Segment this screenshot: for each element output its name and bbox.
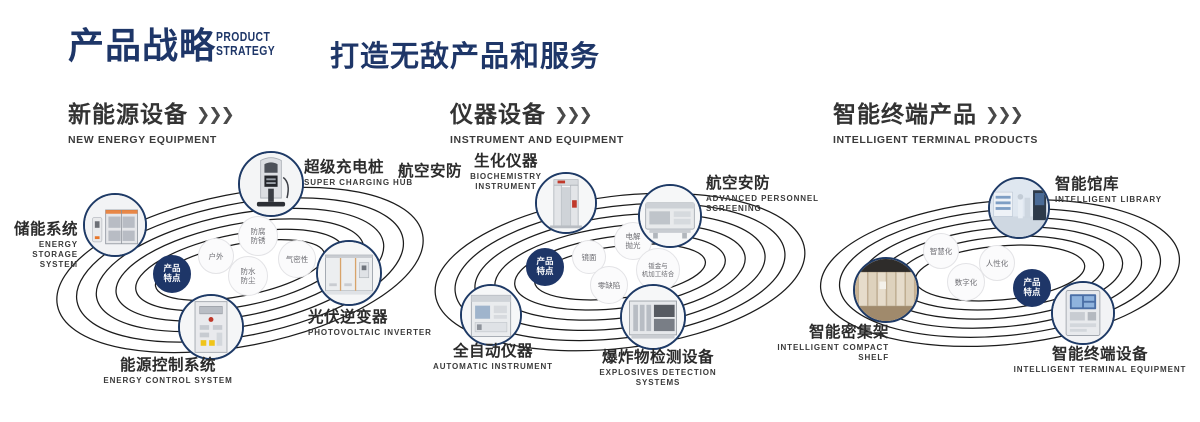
product-node-advanced-personnel-screening[interactable] xyxy=(638,184,702,248)
feature-bubble-digitalized: 数字化 xyxy=(947,263,985,301)
section-heading-new-energy: 新能源设备❯❯❯ NEW ENERGY EQUIPMENT xyxy=(68,95,233,146)
caption-automatic-instrument-en: AUTOMATIC INSTRUMENT xyxy=(418,362,568,372)
caption-intelligent-terminal-equipment-en: INTELLIGENT TERMINAL EQUIPMENT xyxy=(1010,365,1190,375)
center-bubble-product-features: 产品特点 xyxy=(1013,269,1051,307)
section-heading-new-energy-en: NEW ENERGY EQUIPMENT xyxy=(68,134,233,146)
page-title: 产品战略 xyxy=(68,27,216,67)
caption-intelligent-terminal-equipment: 智能终端设备 INTELLIGENT TERMINAL EQUIPMENT xyxy=(1010,345,1190,375)
feature-bubble-anticorrosion: 防腐防锈 xyxy=(238,216,278,256)
page-title-english: PRODUCT STRATEGY xyxy=(216,30,275,58)
feature-bubble-airtightness: 气密性 xyxy=(278,240,316,278)
caption-energy-control-system: 能源控制系统 ENERGY CONTROL SYSTEM xyxy=(78,356,258,386)
page-title-english-line2: STRATEGY xyxy=(216,44,275,58)
detection-rack-icon xyxy=(622,286,684,348)
caption-intelligent-library-en: INTELLIGENT LIBRARY xyxy=(1055,195,1195,205)
page-title-english-line1: PRODUCT xyxy=(216,30,275,44)
product-node-super-charging-hub[interactable] xyxy=(238,151,304,217)
caption-energy-storage-system-en: ENERGY STORAGESYSTEM xyxy=(0,240,78,270)
product-strategy-infographic: 产品战略 PRODUCT STRATEGY 打造无敌产品和服务 新能源设备❯❯❯… xyxy=(0,0,1200,422)
charging-pile-icon xyxy=(240,153,302,215)
section-heading-intelligent-terminal-en: INTELLIGENT TERMINAL PRODUCTS xyxy=(833,134,1038,146)
caption-explosives-detection-systems-en: EXPLOSIVES DETECTION SYSTEMS xyxy=(578,368,738,388)
chevron-right-icon: ❯❯❯ xyxy=(554,105,591,125)
page-subtitle: 打造无敌产品和服务 xyxy=(330,33,600,75)
section-heading-intelligent-terminal: 智能终端产品❯❯❯ INTELLIGENT TERMINAL PRODUCTS xyxy=(833,95,1038,146)
product-node-intelligent-compact-shelf[interactable] xyxy=(853,257,919,323)
caption-biochemistry-instrument-en: BIOCHEMISTRYINSTRUMENT xyxy=(450,172,562,192)
caption-biochemistry-instrument: 生化仪器 BIOCHEMISTRYINSTRUMENT xyxy=(450,152,562,192)
section-heading-instrument-en: INSTRUMENT AND EQUIPMENT xyxy=(450,134,624,146)
product-node-automatic-instrument[interactable] xyxy=(460,284,522,346)
center-bubble-product-features: 产品特点 xyxy=(526,248,564,286)
caption-energy-control-system-en: ENERGY CONTROL SYSTEM xyxy=(78,376,258,386)
section-heading-new-energy-cn: 新能源设备❯❯❯ xyxy=(68,95,233,129)
xray-scanner-icon xyxy=(640,186,700,246)
product-node-energy-storage-system[interactable] xyxy=(83,193,147,257)
product-node-photovoltaic-inverter[interactable] xyxy=(316,240,382,306)
inverter-cabinet-icon xyxy=(318,242,380,304)
caption-intelligent-library: 智能馆库 INTELLIGENT LIBRARY xyxy=(1055,175,1195,205)
compact-shelf-icon xyxy=(855,259,917,321)
section-heading-intelligent-terminal-cn: 智能终端产品❯❯❯ xyxy=(833,95,1038,129)
product-node-energy-control-system[interactable] xyxy=(178,294,244,360)
chevron-right-icon: ❯❯❯ xyxy=(985,105,1022,125)
product-node-intelligent-terminal-equipment[interactable] xyxy=(1051,281,1115,345)
orbit-group-intelligent-terminal: 智慧化 人性化 数字化 产品特点 xyxy=(815,165,1200,375)
feature-bubble-humanized: 人性化 xyxy=(979,245,1015,281)
orbit-group-new-energy: 户外 防腐防锈 防水防尘 气密性 产品特点 xyxy=(50,160,450,370)
center-bubble-product-features: 产品特点 xyxy=(153,255,191,293)
caption-energy-storage-system: 储能系统 ENERGY STORAGESYSTEM xyxy=(0,220,78,270)
feature-bubble-waterproof-dustproof: 防水防尘 xyxy=(228,256,268,296)
section-heading-instrument: 仪器设备❯❯❯ INSTRUMENT AND EQUIPMENT xyxy=(450,95,624,146)
automatic-instrument-icon xyxy=(462,286,520,344)
caption-intelligent-compact-shelf-en: INTELLIGENT COMPACTSHELF xyxy=(753,343,889,363)
self-service-kiosk-icon xyxy=(1053,283,1113,343)
energy-storage-cabinet-icon xyxy=(85,195,145,255)
library-interior-icon xyxy=(990,179,1048,237)
page-header: 产品战略 PRODUCT STRATEGY 打造无敌产品和服务 xyxy=(0,0,1200,86)
caption-automatic-instrument: 全自动仪器 AUTOMATIC INSTRUMENT xyxy=(418,342,568,372)
caption-intelligent-compact-shelf: 智能密集架 INTELLIGENT COMPACTSHELF xyxy=(753,323,889,363)
chevron-right-icon: ❯❯❯ xyxy=(196,105,233,125)
product-node-explosives-detection-systems[interactable] xyxy=(620,284,686,350)
section-heading-instrument-cn: 仪器设备❯❯❯ xyxy=(450,95,624,129)
control-cabinet-icon xyxy=(180,296,242,358)
product-node-intelligent-library[interactable] xyxy=(988,177,1050,239)
feature-bubble-intelligent: 智慧化 xyxy=(923,233,959,269)
caption-explosives-detection-systems: 爆炸物检测设备 EXPLOSIVES DETECTION SYSTEMS xyxy=(578,348,738,388)
